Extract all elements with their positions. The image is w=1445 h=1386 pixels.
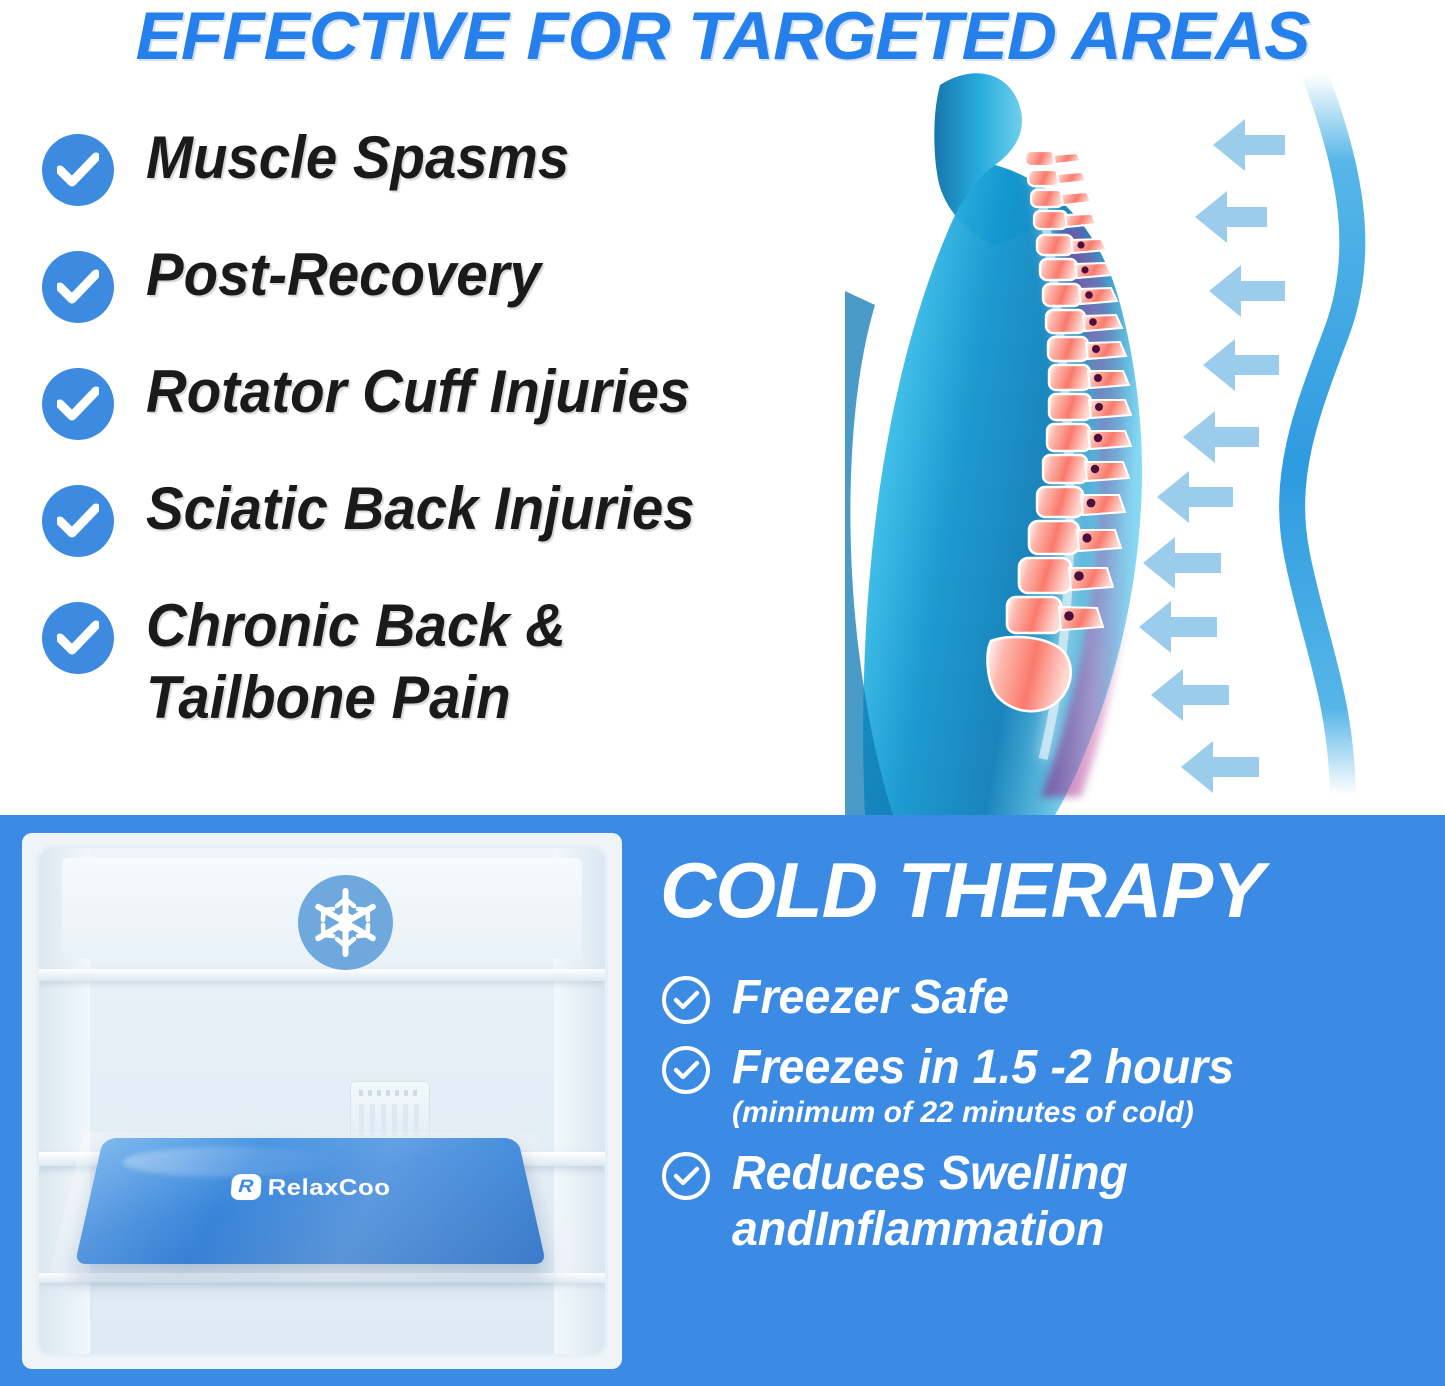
benefit-label: Rotator Cuff Injuries xyxy=(146,356,690,428)
brand-mark-icon: R xyxy=(230,1174,261,1200)
check-circle-icon xyxy=(42,485,114,557)
cold-therapy-section: R RelaxCoo xyxy=(0,815,1445,1386)
list-item: Sciatic Back Injuries xyxy=(42,479,872,596)
freezer-shelf xyxy=(39,969,605,981)
feature-label: Freezer Safe xyxy=(732,970,1424,1026)
check-circle-outline-icon xyxy=(660,974,712,1026)
list-item: Rotator Cuff Injuries xyxy=(42,362,872,479)
cold-feature-list: Freezer Safe Freezes in 1.5 -2 hours (mi… xyxy=(660,970,1445,1272)
snowflake-icon xyxy=(298,875,393,970)
benefit-label-line1: Chronic Back & xyxy=(146,592,566,659)
list-item: Freezes in 1.5 -2 hours (minimum of 22 m… xyxy=(660,1040,1445,1132)
gel-pack-in-freezer-photo: R RelaxCoo xyxy=(22,833,622,1369)
list-item: Freezer Safe xyxy=(660,970,1445,1026)
benefit-label: Post-Recovery xyxy=(146,239,541,311)
list-item: Chronic Back &Tailbone Pain xyxy=(42,596,872,746)
cold-therapy-title: COLD THERAPY xyxy=(660,847,1263,933)
list-item: Post-Recovery xyxy=(42,245,872,362)
list-item: Reduces SwellingandInflammation xyxy=(660,1146,1445,1258)
targeted-areas-section: EFFECTIVE FOR TARGETED AREAS Muscle Spas… xyxy=(0,0,1445,815)
spine-anatomy-illustration xyxy=(845,55,1445,815)
check-circle-outline-icon xyxy=(660,1044,712,1096)
benefit-label: Muscle Spasms xyxy=(146,122,569,194)
feature-label: Reduces SwellingandInflammation xyxy=(732,1146,1424,1258)
check-circle-icon xyxy=(42,368,114,440)
cold-therapy-content: COLD THERAPY Freezer Safe Freezes in 1.5… xyxy=(660,815,1445,1386)
product-infographic: EFFECTIVE FOR TARGETED AREAS Muscle Spas… xyxy=(0,0,1445,1386)
feature-label-line1: Reduces Swelling xyxy=(732,1147,1128,1200)
brand-name: RelaxCoo xyxy=(267,1174,391,1201)
brand-logo: R RelaxCoo xyxy=(230,1174,392,1201)
benefit-label: Chronic Back &Tailbone Pain xyxy=(146,590,566,734)
feature-label-line2: andInflammation xyxy=(732,1202,1424,1258)
check-circle-icon xyxy=(42,251,114,323)
benefit-label: Sciatic Back Injuries xyxy=(146,473,695,545)
check-circle-outline-icon xyxy=(660,1150,712,1202)
check-circle-icon xyxy=(42,134,114,206)
check-circle-icon xyxy=(42,602,114,674)
gel-pack: R RelaxCoo xyxy=(75,1138,547,1264)
feature-label: Freezes in 1.5 -2 hours xyxy=(732,1040,1424,1096)
benefit-label-line2: Tailbone Pain xyxy=(146,662,566,734)
list-item: Muscle Spasms xyxy=(42,128,872,245)
feature-sublabel: (minimum of 22 minutes of cold) xyxy=(732,1094,1445,1132)
benefit-list: Muscle Spasms Post-Recovery Rotator Cuff… xyxy=(42,128,872,746)
